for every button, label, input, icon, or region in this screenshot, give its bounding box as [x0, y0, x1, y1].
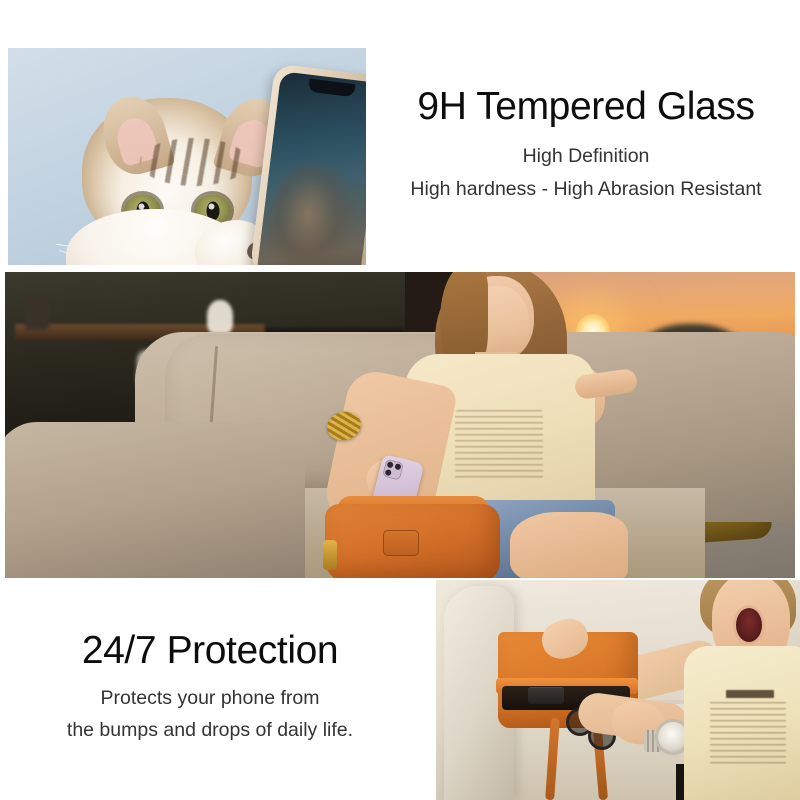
- sofa-armrest: [5, 422, 305, 578]
- kitten-forehead-stripes: [140, 138, 248, 186]
- background-vase: [207, 300, 233, 334]
- feature-text-tempered-glass: 9H Tempered Glass High Definition High h…: [386, 86, 786, 203]
- phone-inside-bag: [528, 688, 564, 704]
- orange-leather-bag: [325, 504, 500, 578]
- protection-subline-2: the bumps and drops of daily life.: [10, 717, 410, 744]
- tank-top-text-print: [455, 410, 543, 482]
- protection-subline-1: Protects your phone from: [10, 685, 410, 712]
- protection-heading: 24/7 Protection: [10, 630, 410, 672]
- tank-top-print-body: [710, 702, 786, 764]
- feature-text-protection: 24/7 Protection Protects your phone from…: [10, 630, 410, 745]
- tempered-glass-heading: 9H Tempered Glass: [386, 86, 786, 128]
- background-lamp: [25, 296, 49, 330]
- kitten-illustration: [56, 66, 281, 265]
- orange-bag-zipper-pull: [323, 540, 337, 570]
- orange-bag-logo-tag: [383, 530, 419, 556]
- tank-top-print-heading: [726, 690, 774, 698]
- screen-reflection: [265, 161, 358, 265]
- shocked-open-mouth: [736, 608, 762, 642]
- product-feature-page: 9H Tempered Glass High Definition High h…: [0, 0, 800, 800]
- photo-shocked-woman-bag: [436, 580, 800, 800]
- tempered-glass-subline-1: High Definition: [386, 143, 786, 170]
- smartphone-screen: [255, 71, 366, 265]
- woman-leg: [510, 512, 628, 578]
- smartphone-notch: [308, 79, 355, 98]
- tempered-glass-subline-2: High hardness - High Abrasion Resistant: [386, 176, 786, 203]
- photo-cat-phone: [8, 48, 366, 265]
- smartphone-camera-module: [382, 459, 404, 481]
- photo-couch-sunset: [5, 272, 795, 578]
